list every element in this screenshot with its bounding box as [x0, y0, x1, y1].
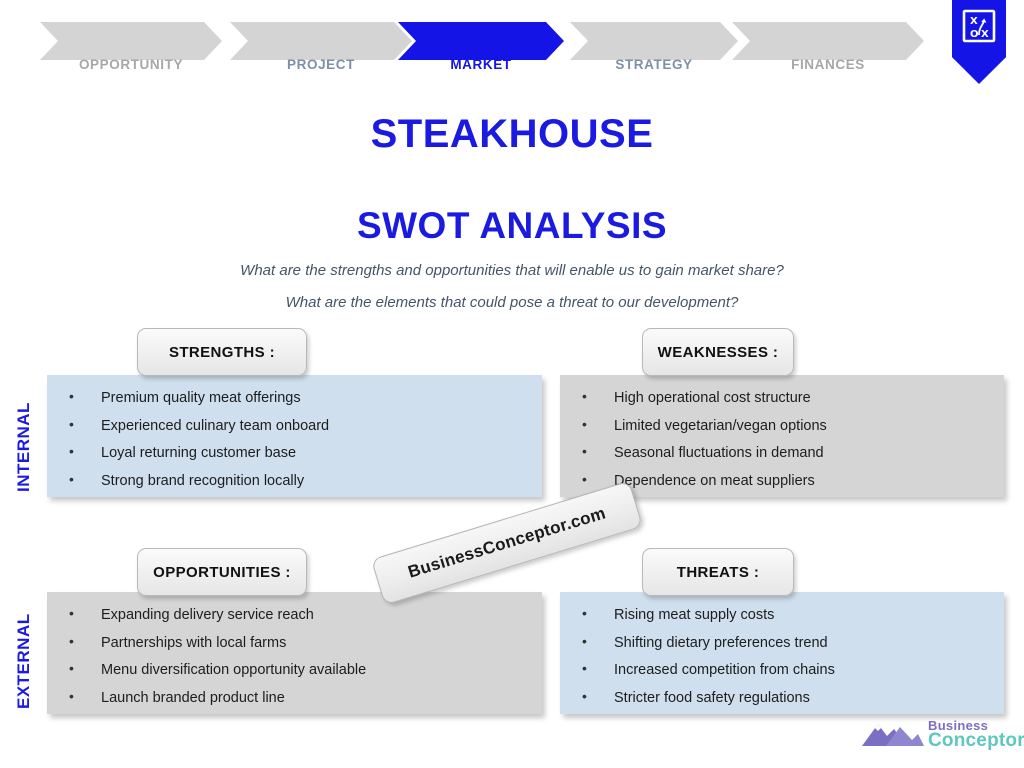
axis-label-external: EXTERNAL: [14, 613, 34, 709]
nav-label-finances[interactable]: FINANCES: [732, 57, 924, 75]
threats-title-tab[interactable]: THREATS :: [642, 548, 794, 596]
quadrant-threats: Rising meat supply costs Shifting dietar…: [560, 592, 1004, 714]
nav-chevron-opportunity[interactable]: [40, 22, 222, 60]
nav-chevron-strategy[interactable]: [570, 22, 738, 60]
threats-list: Rising meat supply costs Shifting dietar…: [578, 606, 994, 717]
nav-label-strategy[interactable]: STRATEGY: [570, 57, 738, 75]
company-title: STEAKHOUSE: [0, 112, 1024, 157]
subtitle-line-2: What are the elements that could pose a …: [0, 294, 1024, 311]
nav-label-opportunity[interactable]: OPPORTUNITY: [40, 57, 222, 75]
mountain-icon: [860, 716, 926, 750]
axis-label-internal: INTERNAL: [14, 402, 34, 492]
strategy-badge: X O X: [952, 0, 1006, 84]
nav-chevron-finances[interactable]: [732, 22, 924, 60]
list-item: Expanding delivery service reach: [65, 606, 532, 624]
nav-chevron-market[interactable]: [398, 22, 564, 60]
list-item: Stricter food safety regulations: [578, 689, 994, 707]
strengths-list: Premium quality meat offerings Experienc…: [65, 389, 532, 500]
quadrant-strengths: Premium quality meat offerings Experienc…: [47, 375, 542, 497]
weaknesses-panel: High operational cost structure Limited …: [560, 375, 1004, 497]
list-item: Strong brand recognition locally: [65, 472, 532, 490]
list-item: Seasonal fluctuations in demand: [578, 444, 994, 462]
brand-logo: Business Conceptor: [860, 716, 1012, 760]
list-item: Premium quality meat offerings: [65, 389, 532, 407]
opportunities-list: Expanding delivery service reach Partner…: [65, 606, 532, 717]
list-item: Loyal returning customer base: [65, 444, 532, 462]
list-item: Rising meat supply costs: [578, 606, 994, 624]
opportunities-panel: Expanding delivery service reach Partner…: [47, 592, 542, 714]
list-item: High operational cost structure: [578, 389, 994, 407]
quadrant-opportunities: Expanding delivery service reach Partner…: [47, 592, 542, 714]
page-title: SWOT ANALYSIS: [0, 205, 1024, 247]
nav-chevron-project[interactable]: [230, 22, 412, 60]
svg-text:O: O: [970, 29, 979, 40]
logo-wordmark: Business Conceptor: [928, 719, 1024, 750]
strengths-title-tab[interactable]: STRENGTHS :: [137, 328, 307, 376]
svg-text:X: X: [970, 16, 978, 27]
list-item: Shifting dietary preferences trend: [578, 634, 994, 652]
list-item: Dependence on meat suppliers: [578, 472, 994, 490]
weaknesses-list: High operational cost structure Limited …: [578, 389, 994, 500]
logo-text-conceptor: Conceptor: [928, 731, 1024, 750]
process-navigation-bar: OPPORTUNITY PROJECT MARKET STRATEGY FINA…: [0, 0, 1024, 92]
subtitle-line-1: What are the strengths and opportunities…: [0, 262, 1024, 279]
list-item: Menu diversification opportunity availab…: [65, 661, 532, 679]
svg-text:X: X: [981, 29, 989, 40]
quadrant-weaknesses: High operational cost structure Limited …: [560, 375, 1004, 497]
list-item: Launch branded product line: [65, 689, 532, 707]
threats-panel: Rising meat supply costs Shifting dietar…: [560, 592, 1004, 714]
swot-analysis-slide: OPPORTUNITY PROJECT MARKET STRATEGY FINA…: [0, 0, 1024, 768]
list-item: Limited vegetarian/vegan options: [578, 417, 994, 435]
nav-label-market[interactable]: MARKET: [398, 57, 564, 75]
nav-label-project[interactable]: PROJECT: [230, 57, 412, 75]
weaknesses-title-tab[interactable]: WEAKNESSES :: [642, 328, 794, 376]
list-item: Partnerships with local farms: [65, 634, 532, 652]
opportunities-title-tab[interactable]: OPPORTUNITIES :: [137, 548, 307, 596]
strategy-playbook-icon: X O X: [961, 8, 997, 44]
strengths-panel: Premium quality meat offerings Experienc…: [47, 375, 542, 497]
list-item: Increased competition from chains: [578, 661, 994, 679]
list-item: Experienced culinary team onboard: [65, 417, 532, 435]
